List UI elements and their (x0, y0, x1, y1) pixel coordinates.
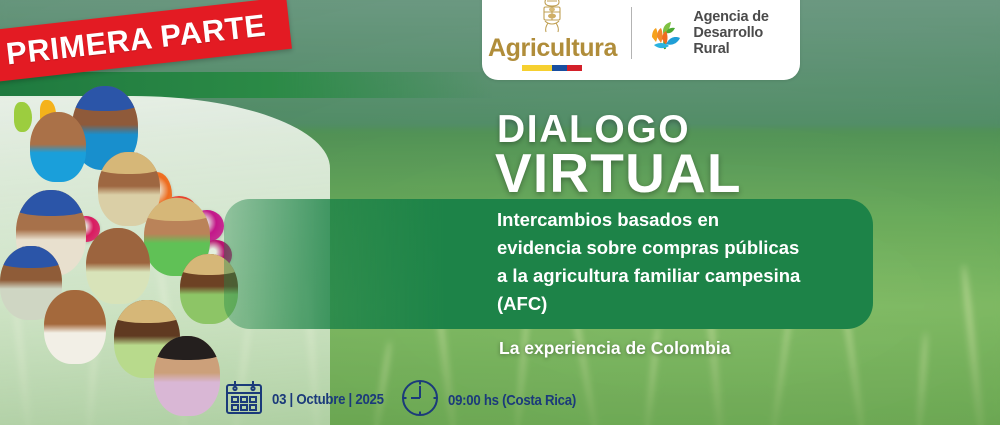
clock-icon (400, 378, 440, 423)
colombia-flag-stripes-icon (522, 65, 582, 71)
person-figure (44, 290, 106, 364)
person-hat (154, 336, 220, 360)
agency-line-2: Desarrollo Rural (693, 25, 763, 57)
colombia-coat-of-arms-icon (535, 0, 569, 35)
event-subtitle: La experiencia de Colombia (499, 338, 730, 359)
ministry-wordmark: Agricultura (488, 36, 617, 61)
ministry-of-agriculture-logo: Agricultura (482, 0, 631, 71)
person-hat (114, 300, 180, 323)
person-hat (72, 86, 138, 111)
agency-wordmark: Agencia de Desarrollo Rural (693, 9, 794, 58)
calendar-icon (224, 378, 264, 421)
event-date: 03 | Octubre | 2025 (272, 391, 384, 408)
collage-person (44, 290, 106, 364)
event-description: Intercambios basados en evidencia sobre … (497, 206, 807, 318)
person-figure (30, 112, 86, 182)
agency-line-1: Agencia de (693, 9, 768, 25)
person-hat (98, 152, 160, 174)
agencia-desarrollo-rural-logo: Agencia de Desarrollo Rural (632, 9, 800, 58)
person-hat (144, 198, 210, 221)
person-hat (0, 246, 62, 268)
sprout-leaf-icon (646, 13, 686, 53)
logo-divider (631, 7, 632, 59)
logo-card: Agricultura Agencia de (482, 0, 800, 80)
title-line-2: VIRTUAL (495, 146, 742, 201)
event-promo-banner: Agricultura Agencia de (0, 0, 1000, 425)
event-time-group: 09:00 hs (Costa Rica) (400, 378, 593, 423)
collage-person (30, 112, 86, 182)
event-time: 09:00 hs (Costa Rica) (448, 392, 576, 409)
event-details-row: 03 | Octubre | 2025 09:00 hs (Costa Rica… (0, 368, 1000, 425)
person-hat (16, 190, 86, 216)
event-date-group: 03 | Octubre | 2025 (224, 378, 399, 421)
